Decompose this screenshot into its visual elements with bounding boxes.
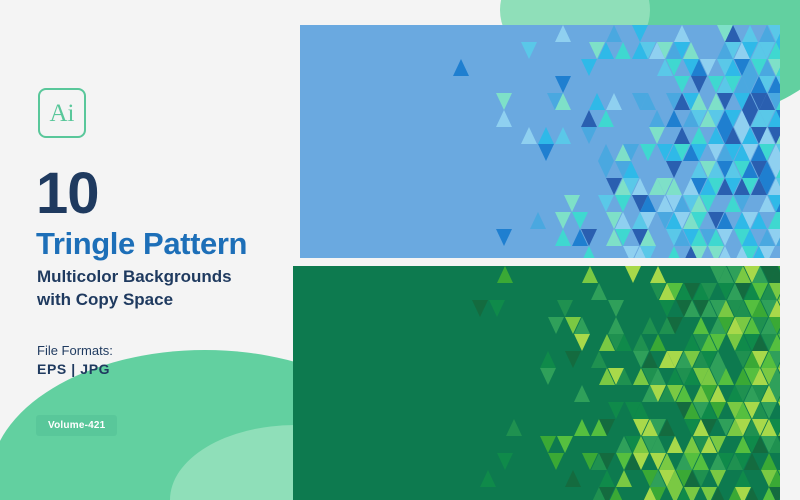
pattern-triangle	[691, 76, 707, 93]
pattern-triangle	[769, 487, 780, 500]
pattern-triangle	[632, 178, 648, 195]
pattern-triangle	[555, 229, 571, 246]
pattern-triangle	[540, 351, 556, 368]
pattern-triangle	[555, 93, 571, 110]
pattern-triangle	[742, 25, 758, 42]
pattern-triangle	[589, 93, 605, 110]
pattern-triangle	[667, 317, 683, 334]
pattern-triangle	[761, 453, 777, 470]
pattern-triangle	[538, 144, 554, 161]
preview-green-triangle-pattern	[293, 266, 780, 500]
pattern-triangle	[548, 317, 564, 334]
pattern-triangle	[776, 25, 780, 42]
pattern-triangle	[751, 212, 767, 229]
pattern-triangle	[666, 161, 682, 178]
pattern-triangle	[674, 76, 690, 93]
preview-blue-triangle-pattern	[300, 25, 780, 258]
pattern-triangle	[759, 246, 775, 258]
pattern-triangle	[574, 334, 590, 351]
pattern-triangle	[642, 317, 658, 334]
pattern-triangle	[615, 195, 631, 212]
pattern-triangle	[615, 42, 631, 59]
pattern-triangle	[640, 229, 656, 246]
pattern-triangle	[710, 436, 726, 453]
pattern-triangle	[453, 59, 469, 76]
pattern-triangle	[640, 195, 656, 212]
pattern-triangle	[555, 212, 571, 229]
pattern-triangle	[598, 144, 614, 161]
pattern-triangle	[659, 453, 675, 470]
pattern-triangle	[778, 368, 781, 385]
pattern-count: 10	[36, 165, 99, 223]
pattern-triangle	[633, 453, 649, 470]
pattern-triangle	[667, 436, 683, 453]
pattern-triangle	[591, 351, 607, 368]
pattern-triangle	[540, 436, 556, 453]
pattern-triangle	[608, 487, 624, 500]
pattern-triangle	[633, 334, 649, 351]
pattern-triangle	[778, 334, 781, 351]
pattern-triangle	[693, 470, 709, 487]
pattern-triangle	[717, 246, 733, 258]
info-panel: Ai 10 Tringle Pattern Multicolor Backgro…	[0, 0, 300, 500]
pattern-triangle	[710, 385, 726, 402]
adobe-illustrator-icon: Ai	[38, 88, 86, 138]
file-formats-label: File Formats:	[37, 343, 113, 358]
pattern-triangle	[717, 229, 733, 246]
pattern-triangle	[776, 42, 780, 59]
pattern-triangle	[776, 161, 780, 178]
pattern-triangle	[496, 229, 512, 246]
pattern-triangle	[632, 25, 648, 42]
pattern-triangle	[472, 300, 488, 317]
pattern-triangle	[778, 470, 781, 487]
pattern-triangle	[691, 144, 707, 161]
pattern-triangle	[691, 127, 707, 144]
pattern-triangle	[606, 93, 622, 110]
pattern-triangle	[776, 229, 780, 246]
pattern-triangle	[776, 144, 780, 161]
pattern-triangle	[521, 127, 537, 144]
pattern-triangle	[581, 246, 597, 258]
pattern-triangle	[555, 25, 571, 42]
poster-canvas: Ai 10 Tringle Pattern Multicolor Backgro…	[0, 0, 800, 500]
pattern-triangle	[650, 266, 666, 283]
pattern-triangle	[650, 487, 666, 500]
pattern-triangle	[676, 385, 692, 402]
pattern-triangle	[691, 212, 707, 229]
pattern-triangle	[778, 300, 781, 317]
pattern-triangle	[574, 419, 590, 436]
pattern-triangle	[778, 283, 781, 300]
pattern-triangle	[776, 127, 780, 144]
pattern-triangle	[778, 402, 781, 419]
pattern-triangle	[718, 368, 734, 385]
pattern-triangle	[496, 93, 512, 110]
pattern-triangle	[497, 453, 513, 470]
pattern-triangle	[625, 266, 641, 283]
pattern-triangle	[710, 351, 726, 368]
pattern-triangle	[506, 419, 522, 436]
pattern-triangle	[650, 368, 666, 385]
pattern-triangle	[616, 470, 632, 487]
pattern-triangle	[710, 334, 726, 351]
pattern-triangle	[623, 161, 639, 178]
pattern-triangle	[615, 212, 631, 229]
pattern-triangle	[608, 402, 624, 419]
pattern-triangle	[717, 212, 733, 229]
pattern-triangle	[776, 59, 780, 76]
pattern-triangle	[650, 436, 666, 453]
pattern-triangle	[776, 93, 780, 110]
pattern-triangle	[640, 246, 656, 258]
pattern-triangle	[574, 317, 590, 334]
pattern-triangle	[666, 178, 682, 195]
pattern-triangle	[564, 195, 580, 212]
pattern-triangle	[649, 127, 665, 144]
pattern-triangle	[530, 212, 546, 229]
pattern-triangle	[599, 470, 615, 487]
pattern-triangle	[521, 42, 537, 59]
pattern-triangle	[693, 453, 709, 470]
pattern-triangle	[700, 59, 716, 76]
pattern-triangle	[710, 487, 726, 500]
pattern-triangle	[717, 93, 733, 110]
pattern-triangle	[761, 402, 777, 419]
pattern-triangle	[649, 110, 665, 127]
pattern-triangle	[666, 110, 682, 127]
pattern-triangle	[744, 453, 760, 470]
pattern-triangle	[598, 110, 614, 127]
pattern-triangle	[691, 93, 707, 110]
pattern-triangle	[674, 25, 690, 42]
pattern-triangle	[778, 351, 781, 368]
pattern-triangle	[640, 144, 656, 161]
pattern-triangle	[710, 470, 726, 487]
pattern-triangle	[633, 402, 649, 419]
pattern-triangle	[778, 419, 781, 436]
pattern-triangle	[642, 351, 658, 368]
pattern-triangle	[606, 25, 622, 42]
pattern-triangle	[572, 212, 588, 229]
pattern-triangle	[701, 283, 717, 300]
pattern-triangle	[778, 436, 781, 453]
pattern-triangle	[778, 266, 781, 283]
pattern-triangle	[640, 93, 656, 110]
pattern-triangle	[497, 266, 513, 283]
pattern-triangle	[598, 42, 614, 59]
pattern-triangle	[574, 385, 590, 402]
pattern-triangle	[599, 419, 615, 436]
volume-badge: Volume-421	[36, 415, 117, 436]
pattern-triangle	[555, 76, 571, 93]
pattern-triangle	[693, 317, 709, 334]
pattern-triangle	[540, 368, 556, 385]
pattern-triangle	[598, 161, 614, 178]
pattern-triangle	[557, 436, 573, 453]
pattern-triangle	[659, 419, 675, 436]
pattern-triangle	[555, 127, 571, 144]
pattern-triangle	[650, 334, 666, 351]
page-subtitle: Multicolor Backgroundswith Copy Space	[37, 266, 287, 312]
pattern-triangle	[744, 487, 760, 500]
pattern-triangle	[591, 283, 607, 300]
pattern-triangle	[700, 195, 716, 212]
pattern-triangle	[666, 59, 682, 76]
page-title: Tringle Pattern	[36, 228, 247, 259]
pattern-triangle	[623, 144, 639, 161]
pattern-triangle	[778, 317, 781, 334]
pattern-triangle	[710, 402, 726, 419]
pattern-triangle	[734, 195, 750, 212]
pattern-triangle	[581, 59, 597, 76]
pattern-triangle	[776, 178, 780, 195]
pattern-triangle	[581, 110, 597, 127]
pattern-triangle	[565, 351, 581, 368]
pattern-triangle	[599, 453, 615, 470]
pattern-triangle	[489, 300, 505, 317]
pattern-triangle	[640, 212, 656, 229]
file-formats-value: EPS | JPG	[37, 361, 110, 377]
pattern-triangle	[691, 246, 707, 258]
ai-badge-label: Ai	[50, 101, 75, 126]
pattern-triangle	[776, 76, 780, 93]
pattern-triangle	[496, 110, 512, 127]
pattern-triangle	[582, 266, 598, 283]
pattern-triangle	[683, 42, 699, 59]
pattern-triangle	[581, 127, 597, 144]
pattern-triangle	[581, 229, 597, 246]
pattern-triangle	[742, 229, 758, 246]
pattern-triangle	[778, 385, 781, 402]
pattern-triangle	[684, 487, 700, 500]
pattern-triangle	[659, 300, 675, 317]
pattern-triangle	[666, 246, 682, 258]
pattern-triangle	[701, 419, 717, 436]
pattern-triangle	[674, 127, 690, 144]
pattern-triangle	[565, 470, 581, 487]
pattern-triangle	[538, 127, 554, 144]
pattern-triangle	[480, 470, 496, 487]
pattern-triangle	[776, 212, 780, 229]
pattern-triangle	[548, 453, 564, 470]
pattern-triangle	[616, 334, 632, 351]
pattern-triangle	[598, 195, 614, 212]
pattern-triangle	[735, 470, 751, 487]
pattern-triangle	[557, 300, 573, 317]
pattern-triangle	[608, 300, 624, 317]
pattern-triangle	[776, 195, 780, 212]
pattern-triangle	[725, 25, 741, 42]
pattern-triangle	[608, 317, 624, 334]
pattern-triangle	[616, 368, 632, 385]
pattern-triangle	[776, 110, 780, 127]
pattern-triangle	[615, 229, 631, 246]
